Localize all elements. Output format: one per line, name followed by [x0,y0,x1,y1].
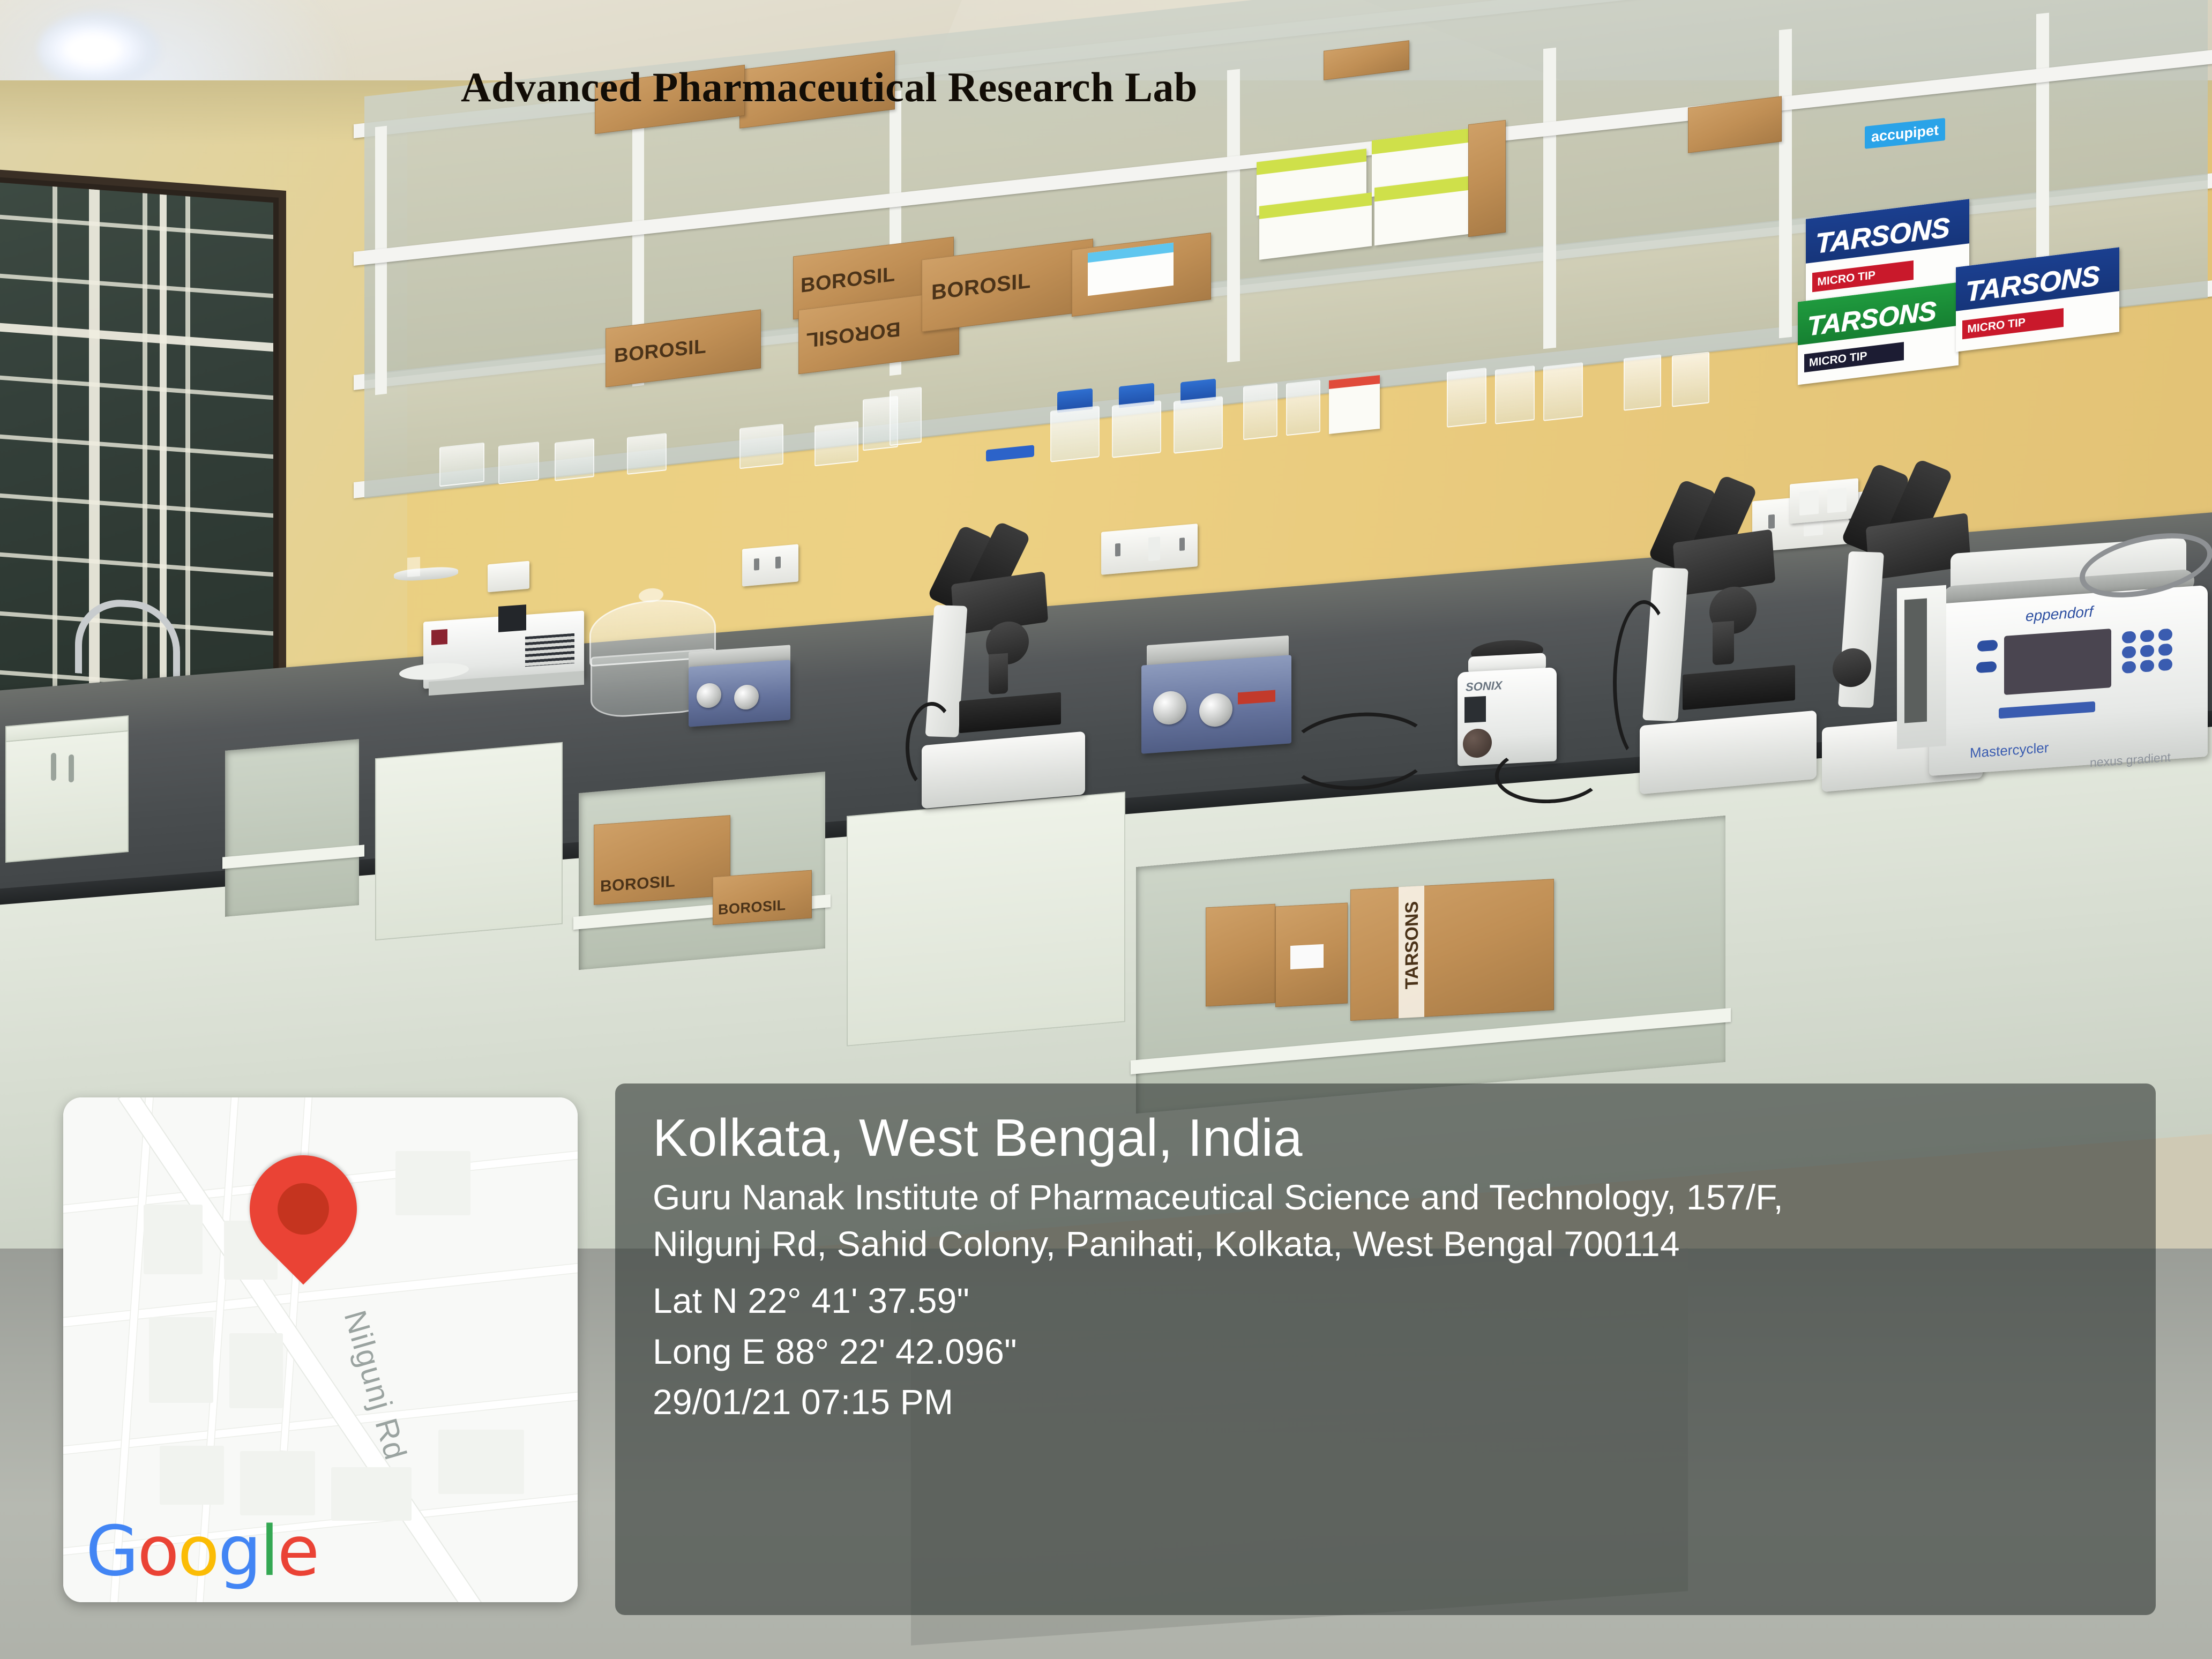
glassware [1243,383,1277,440]
vortex-brand-label: SONIX [1466,678,1502,694]
reagent-bottle [1050,387,1100,462]
glass-rod [407,557,420,577]
borosil-box: BOROSIL [594,815,730,905]
gps-latitude: Lat N 22° 41' 37.59" [653,1279,2124,1322]
glassware [1286,380,1320,436]
reagent-bottle [1112,382,1161,458]
gps-stamp-panel: Kolkata, West Bengal, India Guru Nanak I… [615,1083,2156,1615]
logo-letter-o1: o [137,1512,177,1591]
power-switch[interactable] [1464,696,1486,723]
cycler-display [2004,629,2111,695]
gps-city-line: Kolkata, West Bengal, India [653,1111,2124,1164]
glassware [555,438,594,481]
glassware [890,387,922,446]
borosil-box: BOROSIL [713,870,812,925]
glassware [814,421,858,467]
glassware [498,442,539,484]
ceiling-light-icon [38,11,161,88]
glassware [1543,362,1583,421]
logo-letter-o2: o [178,1512,218,1591]
gps-address-line-2: Nilgunj Rd, Sahid Colony, Panihati, Kolk… [653,1222,2124,1266]
glassware [1495,365,1535,424]
small-box [1329,375,1380,434]
power-socket[interactable] [1101,524,1198,575]
tarsons-carton: TARSONS [1350,879,1554,1021]
logo-letter-g1: G [86,1512,137,1591]
logo-letter-e: e [278,1512,318,1591]
gps-address-line-1: Guru Nanak Institute of Pharmaceutical S… [653,1176,2124,1219]
glassware [1672,352,1709,407]
gps-timestamp: 29/01/21 07:15 PM [653,1380,2124,1424]
power-socket[interactable] [488,561,529,593]
google-logo: Google [86,1518,318,1586]
glassware [1624,354,1661,410]
lab-photo-screenshot: accupipet BOROSIL BOROSIL BOROSIL BOROSI… [0,0,2212,1659]
logo-letter-l: l [260,1512,278,1591]
power-socket[interactable] [742,544,798,586]
map-thumbnail-card[interactable]: Nilgunj Rd Google [63,1097,578,1602]
box-side [1468,120,1506,237]
glassware [627,433,667,475]
tarsons-carton [1206,904,1275,1007]
glassware [439,443,484,487]
tarsons-carton [1275,902,1348,1007]
cycler-keypad[interactable] [2122,627,2185,689]
gps-longitude: Long E 88° 22' 42.096" [653,1330,2124,1373]
page-title: Advanced Pharmaceutical Research Lab [461,63,1198,111]
glassware [1447,368,1486,428]
power-indicator [431,629,447,645]
logo-letter-g2: g [218,1512,260,1591]
glassware [739,424,783,469]
light-switch[interactable] [1790,478,1858,524]
reagent-bottle [1174,378,1223,454]
